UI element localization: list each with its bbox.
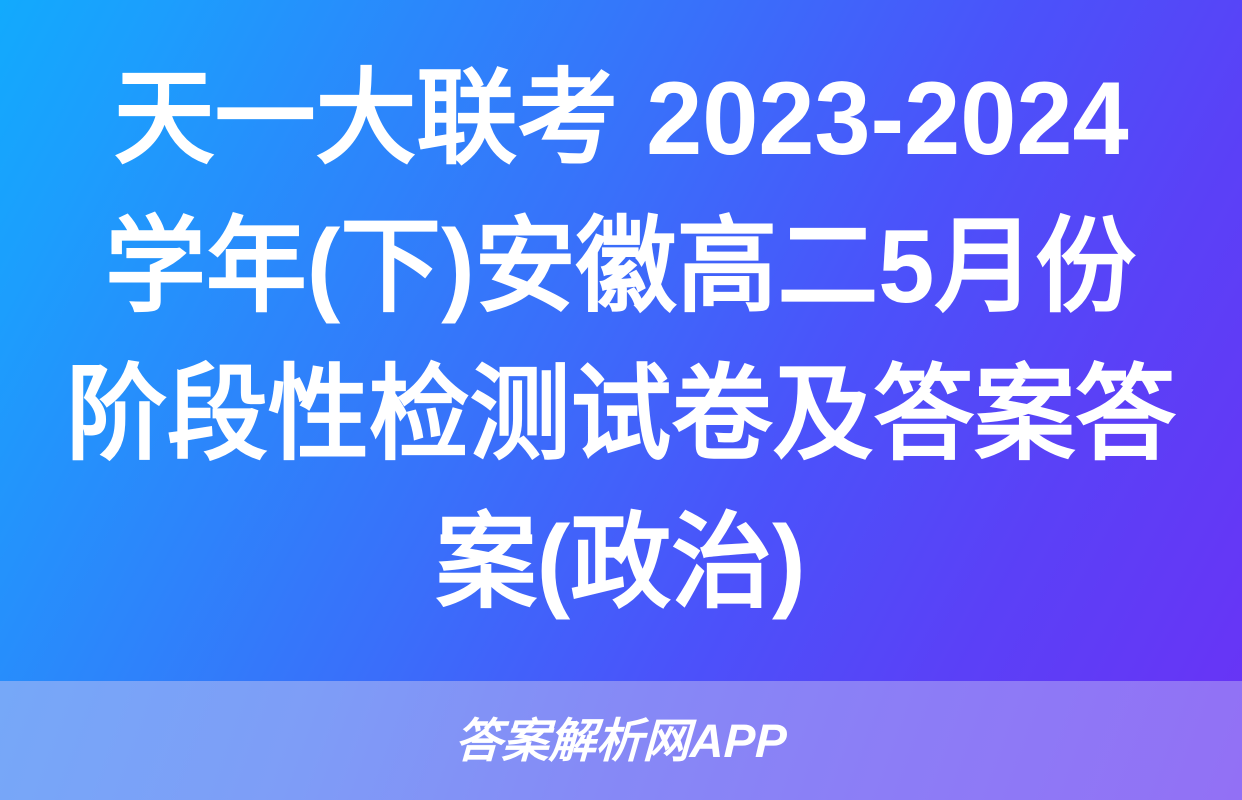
- app-brand-label: 答案解析网APP: [454, 717, 787, 764]
- title-line-3: 阶段性检测试卷及答案答: [66, 341, 1176, 489]
- title-line-2: 学年(下)安徽高二5月份: [105, 193, 1136, 341]
- title-block: 天一大联考 2023-2024 学年(下)安徽高二5月份 阶段性检测试卷及答案答…: [0, 0, 1242, 681]
- footer-band: 答案解析网APP: [0, 681, 1242, 800]
- poster-canvas: 天一大联考 2023-2024 学年(下)安徽高二5月份 阶段性检测试卷及答案答…: [0, 0, 1242, 800]
- title-line-1: 天一大联考 2023-2024: [114, 45, 1129, 193]
- title-line-4: 案(政治): [436, 489, 806, 637]
